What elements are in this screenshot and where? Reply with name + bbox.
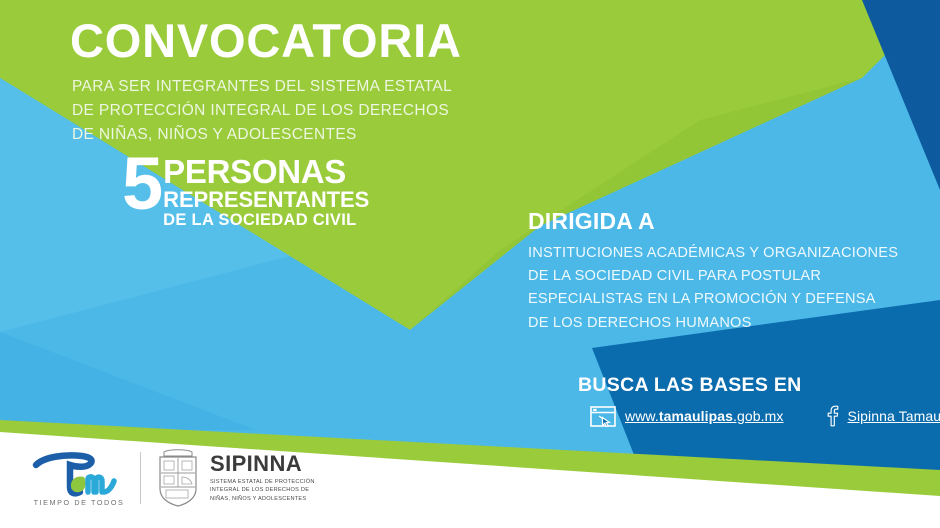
cta-links: www.tamaulipas.gob.mx Sipinna Tamaulipas — [578, 405, 938, 427]
audience-list: INSTITUCIONES ACADÉMICAS Y ORGANIZACIONE… — [528, 242, 928, 335]
logo-divider — [140, 452, 141, 504]
audience-line: ESPECIALISTAS EN LA PROMOCIÓN Y DEFENSA — [528, 288, 928, 311]
count-label-personas: PERSONAS — [163, 156, 369, 188]
website-url-text: www.tamaulipas.gob.mx — [625, 408, 784, 424]
count-label-representantes: REPRESENTANTES — [163, 188, 369, 211]
sipinna-tagline-line: NIÑAS, NIÑOS Y ADOLESCENTES — [210, 495, 315, 504]
page-title: CONVOCATORIA — [70, 16, 590, 65]
audience-title: DIRIGIDA A — [528, 208, 928, 236]
audience-line: INSTITUCIONES ACADÉMICAS Y ORGANIZACIONE… — [528, 242, 928, 265]
sipinna-tagline-line: SISTEMA ESTATAL DE PROTECCIÓN — [210, 478, 315, 487]
facebook-icon — [826, 405, 839, 427]
headline-subtitle-line: DE PROTECCIÓN INTEGRAL DE LOS DERECHOS — [72, 99, 590, 123]
sipinna-tagline: SISTEMA ESTATAL DE PROTECCIÓN INTEGRAL D… — [210, 478, 315, 504]
audience-line: DE LA SOCIEDAD CIVIL PARA POSTULAR — [528, 265, 928, 288]
facebook-link[interactable]: Sipinna Tamaulipas — [826, 405, 940, 427]
headline-subtitle-line: PARA SER INTEGRANTES DEL SISTEMA ESTATAL — [72, 75, 590, 99]
facebook-label: Sipinna Tamaulipas — [848, 408, 940, 424]
audience-line: DE LOS DERECHOS HUMANOS — [528, 312, 928, 335]
tam-logo-wrapper: TIEMPO DE TODOS — [30, 447, 128, 509]
sipinna-text-block: SIPINNA SISTEMA ESTATAL DE PROTECCIÓN IN… — [210, 453, 315, 504]
website-url-prefix: www. — [625, 408, 659, 424]
sipinna-tagline-line: INTEGRAL DE LOS DERECHOS DE — [210, 486, 315, 495]
audience-block: DIRIGIDA A INSTITUCIONES ACADÉMICAS Y OR… — [528, 208, 928, 335]
sipinna-wordmark: SIPINNA — [210, 453, 315, 475]
count-label-sociedad-civil: DE LA SOCIEDAD CIVIL — [163, 211, 369, 231]
tam-logo-tagline: TIEMPO DE TODOS — [34, 498, 125, 507]
tam-logo: TIEMPO DE TODOS — [30, 447, 128, 509]
website-link[interactable]: www.tamaulipas.gob.mx — [590, 406, 784, 427]
headline-block: CONVOCATORIA PARA SER INTEGRANTES DEL SI… — [70, 16, 590, 147]
count-block: 5 PERSONAS REPRESENTANTES DE LA SOCIEDAD… — [122, 152, 369, 231]
sipinna-logo: SIPINNA SISTEMA ESTATAL DE PROTECCIÓN IN… — [155, 447, 315, 509]
website-url-domain: tamaulipas — [659, 408, 733, 424]
count-number: 5 — [122, 152, 161, 216]
website-url-suffix: .gob.mx — [733, 408, 784, 424]
tamaulipas-coat-of-arms-icon — [155, 447, 201, 509]
poster-canvas: CONVOCATORIA PARA SER INTEGRANTES DEL SI… — [0, 0, 940, 528]
cta-title: BUSCA LAS BASES EN — [578, 374, 938, 397]
footer-logos: TIEMPO DE TODOS SIPINNA SISTEMA ESTATA — [30, 447, 315, 509]
cta-block: BUSCA LAS BASES EN www.tamaulipas.gob.mx… — [578, 374, 938, 427]
count-lines: PERSONAS REPRESENTANTES DE LA SOCIEDAD C… — [163, 152, 369, 231]
headline-subtitle-list: PARA SER INTEGRANTES DEL SISTEMA ESTATAL… — [72, 75, 590, 147]
browser-window-icon — [590, 406, 616, 427]
